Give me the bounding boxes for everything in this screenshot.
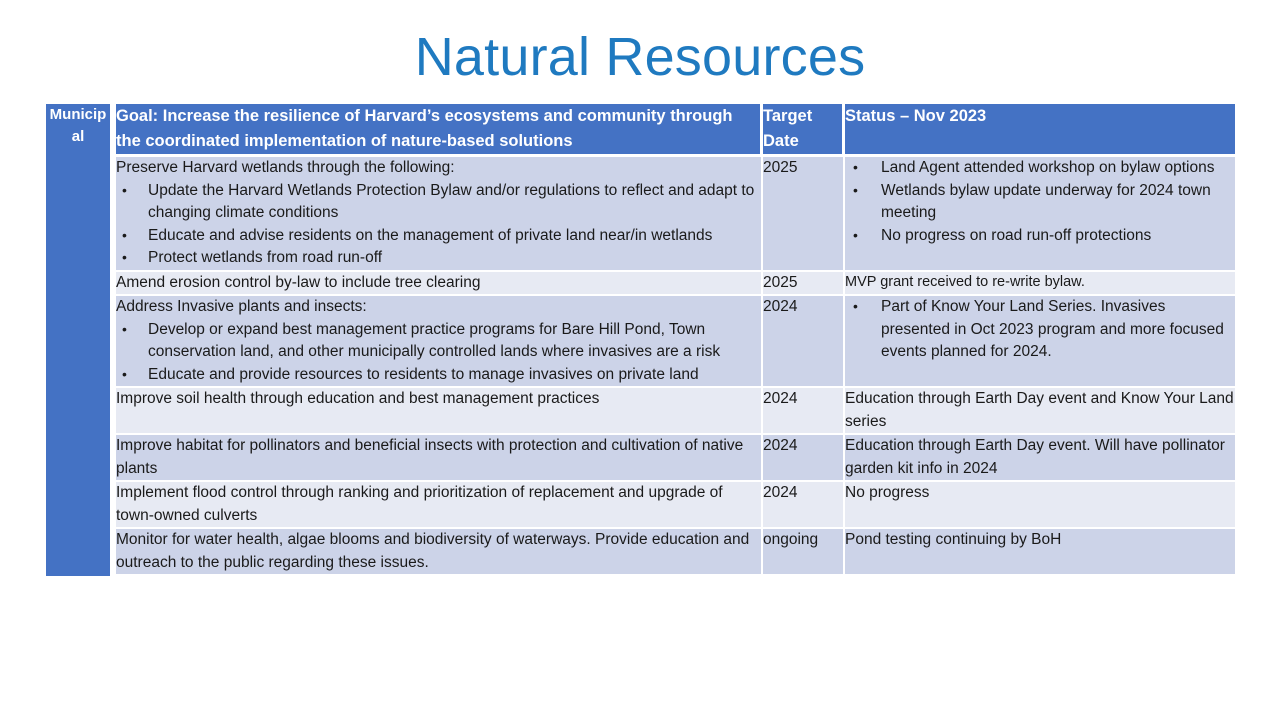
goal-bullet: Update the Harvard Wetlands Protection B… bbox=[116, 180, 761, 225]
page-title: Natural Resources bbox=[0, 26, 1280, 88]
target-date-cell: 2025 bbox=[763, 272, 845, 297]
goal-cell: Improve soil health through education an… bbox=[116, 388, 763, 435]
target-date-cell: ongoing bbox=[763, 529, 845, 576]
status-cell: Part of Know Your Land Series. Invasives… bbox=[845, 296, 1235, 388]
status-bullet-list: Part of Know Your Land Series. Invasives… bbox=[845, 296, 1235, 364]
goal-title: Improve soil health through education an… bbox=[116, 388, 761, 411]
goals-table: Municipal Goal: Increase the resilience … bbox=[46, 104, 1235, 576]
goal-cell: Improve habitat for pollinators and bene… bbox=[116, 435, 763, 482]
table-row: Monitor for water health, algae blooms a… bbox=[46, 529, 1235, 576]
status-bullet: Land Agent attended workshop on bylaw op… bbox=[845, 157, 1235, 180]
goal-bullet: Protect wetlands from road run-off bbox=[116, 247, 761, 270]
status-cell: Pond testing continuing by BoH bbox=[845, 529, 1235, 576]
goal-title: Implement flood control through ranking … bbox=[116, 482, 761, 527]
status-cell: No progress bbox=[845, 482, 1235, 529]
status-text: Education through Earth Day event and Kn… bbox=[845, 388, 1235, 433]
goal-cell: Monitor for water health, algae blooms a… bbox=[116, 529, 763, 576]
table-row: Address Invasive plants and insects: Dev… bbox=[46, 296, 1235, 388]
goal-cell: Address Invasive plants and insects: Dev… bbox=[116, 296, 763, 388]
status-bullet: Part of Know Your Land Series. Invasives… bbox=[845, 296, 1235, 364]
goal-cell: Preserve Harvard wetlands through the fo… bbox=[116, 157, 763, 272]
goal-title: Address Invasive plants and insects: bbox=[116, 296, 761, 319]
target-date-cell: 2024 bbox=[763, 482, 845, 529]
table-row: Improve soil health through education an… bbox=[46, 388, 1235, 435]
status-bullet-list: Land Agent attended workshop on bylaw op… bbox=[845, 157, 1235, 247]
status-cell: Land Agent attended workshop on bylaw op… bbox=[845, 157, 1235, 272]
status-cell: Education through Earth Day event. Will … bbox=[845, 435, 1235, 482]
table-header-row: Municipal Goal: Increase the resilience … bbox=[46, 104, 1235, 157]
status-cell: Education through Earth Day event and Kn… bbox=[845, 388, 1235, 435]
target-date-cell: 2024 bbox=[763, 388, 845, 435]
status-text: No progress bbox=[845, 482, 1235, 505]
goal-title: Amend erosion control by-law to include … bbox=[116, 272, 761, 295]
column-header-status: Status – Nov 2023 bbox=[845, 104, 1235, 157]
table-row: Preserve Harvard wetlands through the fo… bbox=[46, 157, 1235, 272]
table-row: Implement flood control through ranking … bbox=[46, 482, 1235, 529]
goal-cell: Implement flood control through ranking … bbox=[116, 482, 763, 529]
status-text: MVP grant received to re-write bylaw. bbox=[845, 272, 1235, 293]
goal-cell: Amend erosion control by-law to include … bbox=[116, 272, 763, 297]
column-header-target-date: Target Date bbox=[763, 104, 845, 157]
target-date-cell: 2025 bbox=[763, 157, 845, 272]
table-row: Amend erosion control by-law to include … bbox=[46, 272, 1235, 297]
column-header-goal: Goal: Increase the resilience of Harvard… bbox=[116, 104, 763, 157]
status-bullet: No progress on road run-off protections bbox=[845, 225, 1235, 248]
table-row: Improve habitat for pollinators and bene… bbox=[46, 435, 1235, 482]
goal-bullet: Educate and advise residents on the mana… bbox=[116, 225, 761, 248]
status-text: Education through Earth Day event. Will … bbox=[845, 435, 1235, 480]
goal-title: Improve habitat for pollinators and bene… bbox=[116, 435, 761, 480]
goal-bullet-list: Update the Harvard Wetlands Protection B… bbox=[116, 180, 761, 270]
slide-canvas: Natural Resources Municipal Goal: Increa… bbox=[0, 0, 1280, 720]
status-cell: MVP grant received to re-write bylaw. bbox=[845, 272, 1235, 297]
goal-title: Monitor for water health, algae blooms a… bbox=[116, 529, 761, 574]
goal-bullet: Develop or expand best management practi… bbox=[116, 319, 761, 364]
status-bullet: Wetlands bylaw update underway for 2024 … bbox=[845, 180, 1235, 225]
target-date-cell: 2024 bbox=[763, 296, 845, 388]
category-label-municipal: Municipal bbox=[46, 104, 116, 576]
goal-bullet-list: Develop or expand best management practi… bbox=[116, 319, 761, 387]
goal-title: Preserve Harvard wetlands through the fo… bbox=[116, 157, 761, 180]
goal-bullet: Educate and provide resources to residen… bbox=[116, 364, 761, 387]
target-date-cell: 2024 bbox=[763, 435, 845, 482]
status-text: Pond testing continuing by BoH bbox=[845, 529, 1235, 552]
goals-table-body: Municipal Goal: Increase the resilience … bbox=[46, 104, 1235, 576]
